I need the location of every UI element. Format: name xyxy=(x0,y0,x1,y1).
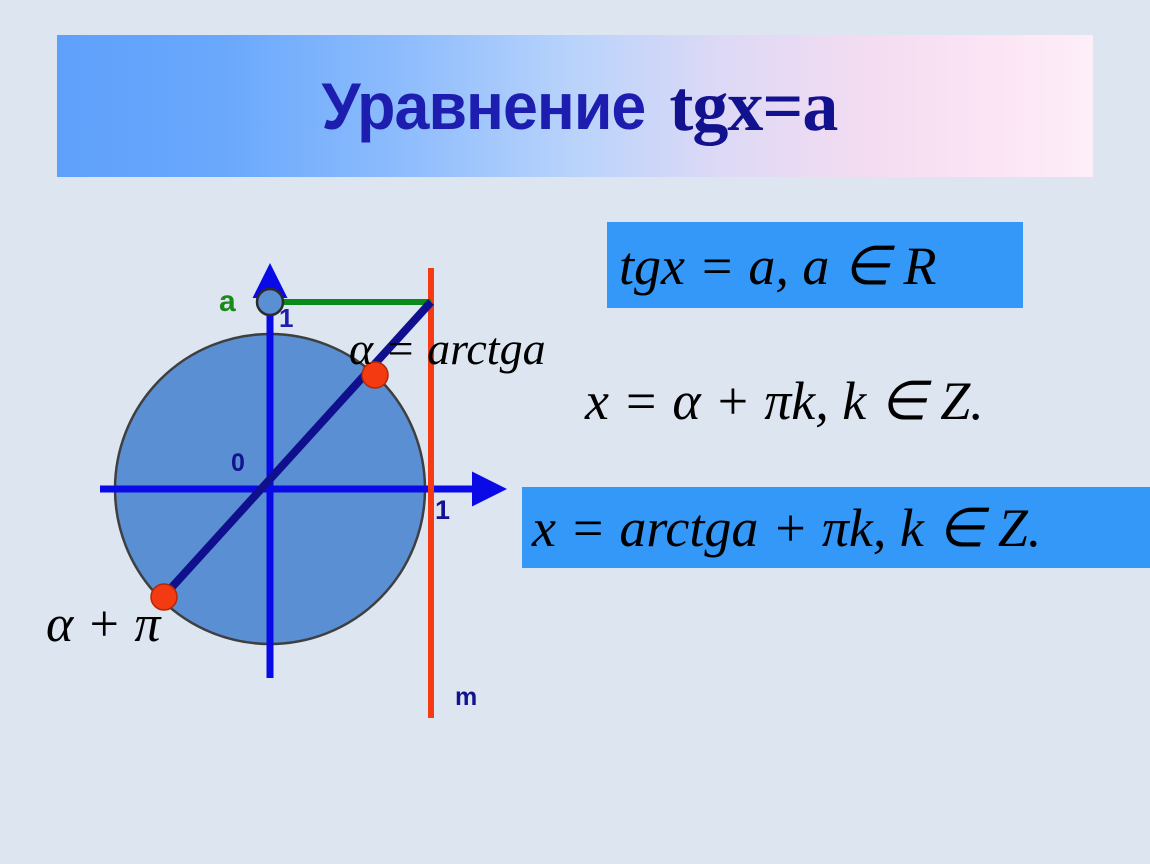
label-a: a xyxy=(219,285,236,319)
formula-box-tgx-equals-a: tgx = a, a ∈ R xyxy=(607,222,1023,308)
label-alpha-plus-pi: α + π xyxy=(46,595,160,654)
label-alpha-equals-arctga: α = arctga xyxy=(349,322,546,375)
title-word-uravnenie: Уравнение xyxy=(321,68,645,144)
formula-box-x-equals-arctga-plus-pik: x = arctga + πk, k ∈ Z. xyxy=(522,487,1150,568)
title-banner: Уравнение tgx=a xyxy=(57,35,1093,177)
label-unit-x-axis: 1 xyxy=(435,495,450,526)
label-origin-zero: 0 xyxy=(231,449,245,478)
formula-x-equals-alpha-plus-pik: x = α + πk, k ∈ Z. xyxy=(585,365,1085,435)
label-unit-y-axis: 1 xyxy=(279,303,293,334)
page-title: Уравнение tgx=a xyxy=(57,35,1093,177)
title-equation-tgx-a: tgx=a xyxy=(669,65,837,148)
slide-canvas: Уравнение tgx=a a 1 0 1 m xyxy=(0,0,1150,864)
label-tangent-line-m: m xyxy=(455,683,477,712)
unit-circle xyxy=(115,334,425,644)
